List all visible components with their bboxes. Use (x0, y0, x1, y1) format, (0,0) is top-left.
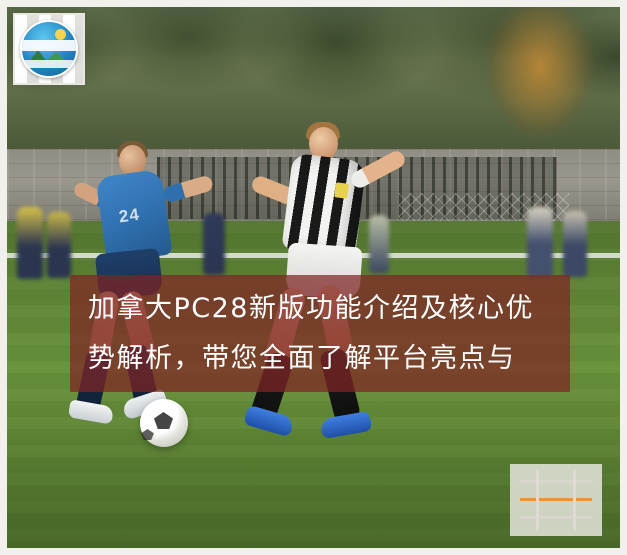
photo-card: 24 (0, 0, 627, 555)
ornament-bar (520, 480, 592, 483)
player-arm (348, 148, 407, 190)
logo-band (22, 40, 76, 51)
title-line-2: 势解析，带您全面了解平台亮点与 (88, 334, 552, 384)
club-crest-icon (334, 182, 349, 198)
title-line-1: 加拿大PC28新版功能介绍及核心优 (88, 284, 552, 334)
ornament-bar (520, 516, 592, 519)
autumn-tree (480, 7, 600, 157)
player-boot (68, 399, 114, 424)
background-person (527, 207, 553, 277)
sun-icon (55, 29, 66, 40)
player-jersey (281, 153, 366, 257)
player-arm (162, 174, 214, 203)
background-person (17, 207, 43, 279)
ornament-divider (573, 470, 576, 530)
logo-band (22, 60, 76, 68)
background-person (563, 211, 587, 277)
ornament-divider (536, 470, 539, 530)
overlay-title-band: 加拿大PC28新版功能介绍及核心优 势解析，带您全面了解平台亮点与 (70, 275, 570, 392)
globe-landscape-icon (20, 20, 78, 78)
bottom-right-ornament (510, 464, 602, 536)
ornament-accent-bar (520, 498, 592, 501)
site-logo-badge[interactable] (13, 13, 85, 85)
